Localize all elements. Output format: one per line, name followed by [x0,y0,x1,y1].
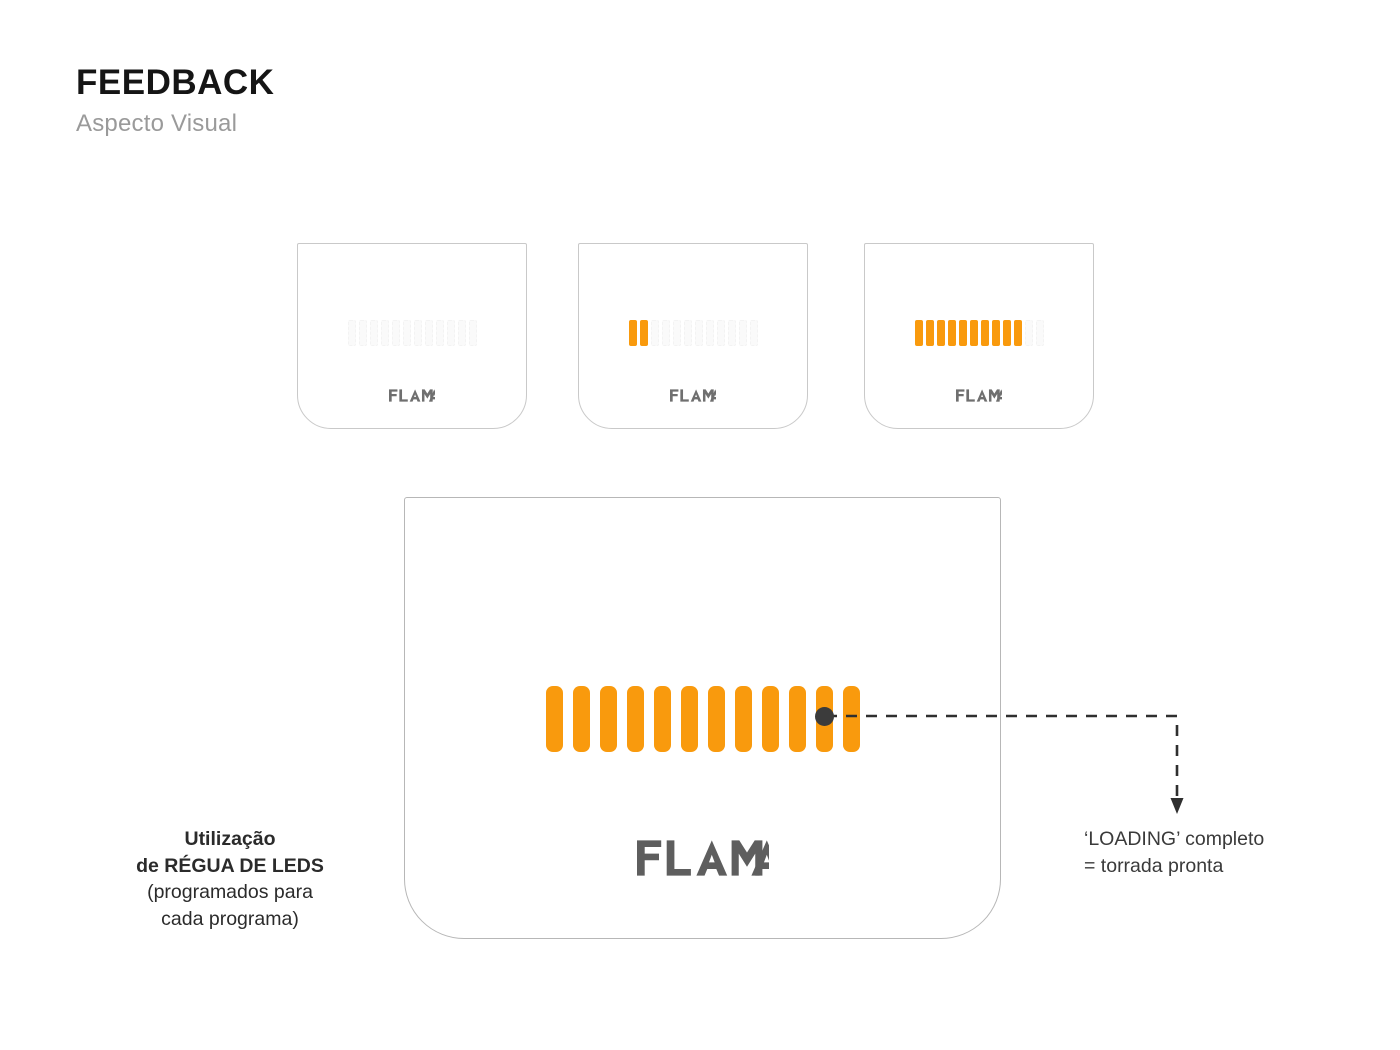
led-8-on [992,320,1000,346]
led-12-off [1036,320,1044,346]
led-11-off [739,320,747,346]
led-5-on [959,320,967,346]
led-1-on [546,686,563,752]
caption-right-line1: ‘LOADING’ completo [1084,826,1344,853]
led-5-off [392,320,400,346]
led-12-off [750,320,758,346]
toaster-state-starting [578,243,808,429]
led-4-on [948,320,956,346]
led-6-on [681,686,698,752]
led-9-on [762,686,779,752]
led-11-off [1025,320,1033,346]
led-11-off [458,320,466,346]
led-10-on [1014,320,1022,346]
callout-leader-line [820,690,1220,830]
flama-wordmark [579,389,807,402]
caption-right-line2: = torrada pronta [1084,853,1344,880]
led-8-off [706,320,714,346]
led-1-on [629,320,637,346]
led-3-off [370,320,378,346]
led-2-on [926,320,934,346]
caption-left-line2: de RÉGUA DE LEDS [110,853,350,880]
page-header: FEEDBACK Aspecto Visual [76,64,676,137]
caption-left-line3: (programados para [110,879,350,906]
led-6-off [403,320,411,346]
led-6-on [970,320,978,346]
led-7-on [708,686,725,752]
led-4-off [381,320,389,346]
led-4-on [627,686,644,752]
led-10-off [447,320,455,346]
led-5-on [654,686,671,752]
led-9-off [436,320,444,346]
led-strip-state-empty [298,320,526,346]
toaster-state-almost [864,243,1094,429]
led-3-on [600,686,617,752]
led-3-off [651,320,659,346]
caption-left-line1: Utilização [110,826,350,853]
flama-wordmark [865,389,1093,402]
led-7-off [695,320,703,346]
caption-left: Utilização de RÉGUA DE LEDS (programados… [110,826,350,932]
led-5-off [673,320,681,346]
led-2-on [573,686,590,752]
led-1-off [348,320,356,346]
led-6-off [684,320,692,346]
led-7-on [981,320,989,346]
led-9-on [1003,320,1011,346]
page-title: FEEDBACK [76,64,676,102]
caption-left-line4: cada programa) [110,906,350,933]
led-strip-state-starting [579,320,807,346]
toaster-state-empty [297,243,527,429]
flama-wordmark-large [405,840,1000,876]
led-9-off [717,320,725,346]
led-2-on [640,320,648,346]
led-4-off [662,320,670,346]
led-12-off [469,320,477,346]
led-7-off [414,320,422,346]
led-8-on [735,686,752,752]
page-subtitle: Aspecto Visual [76,110,676,138]
led-3-on [937,320,945,346]
led-8-off [425,320,433,346]
led-2-off [359,320,367,346]
led-10-off [728,320,736,346]
led-strip-state-almost [865,320,1093,346]
caption-right: ‘LOADING’ completo = torrada pronta [1084,826,1344,880]
led-1-on [915,320,923,346]
callout-marker-dot [815,707,834,726]
flama-wordmark [298,389,526,402]
led-10-on [789,686,806,752]
